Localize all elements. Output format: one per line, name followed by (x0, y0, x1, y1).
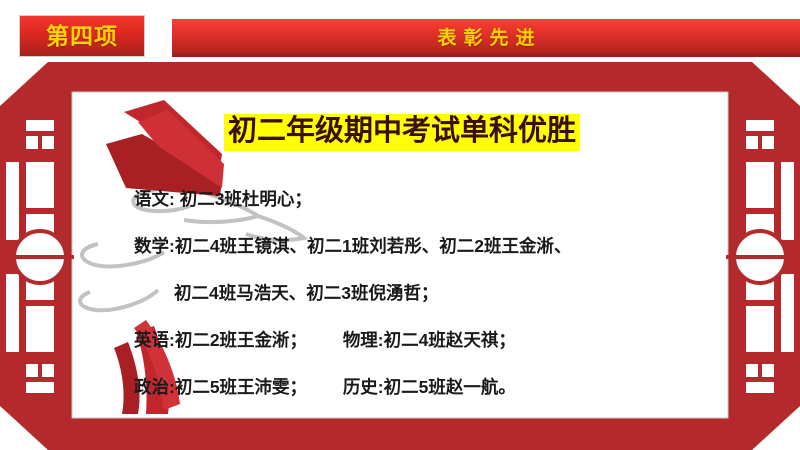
top-bar: 第四项 表彰先进 (0, 0, 800, 62)
slide-root: 第四项 表彰先进 (0, 0, 800, 450)
award-line-text: 初二4班马浩天、初二3班倪湧哲； (174, 283, 438, 303)
section-number-label: 第四项 (46, 25, 118, 48)
section-title-banner: 表彰先进 (172, 19, 800, 57)
list-item: 政治:初二5班王沛雯； 历史:初二5班赵一航。 (72, 364, 728, 411)
award-line-text: 语文: 初二3班杜明心； (134, 189, 312, 209)
award-line-text-a: 英语:初二2班王金淅； (134, 330, 307, 350)
award-line-text-a: 政治:初二5班王沛雯； (134, 377, 307, 397)
list-item: 英语:初二2班王金淅； 物理:初二4班赵天祺； (72, 317, 728, 364)
section-number-badge: 第四项 (19, 15, 145, 57)
list-item: 语文: 初二3班杜明心； (72, 176, 728, 223)
list-item: 数学:初二4班王镜淇、初二1班刘若彤、初二2班王金淅、 (72, 223, 728, 270)
page-title: 初二年级期中考试单科优胜 (224, 114, 580, 151)
award-line-text: 数学:初二4班王镜淇、初二1班刘若彤、初二2班王金淅、 (134, 236, 572, 256)
award-line-text-b: 历史:初二5班赵一航。 (343, 377, 516, 397)
section-title-label: 表彰先进 (430, 29, 541, 48)
award-list: 语文: 初二3班杜明心； 数学:初二4班王镜淇、初二1班刘若彤、初二2班王金淅、… (72, 176, 728, 411)
content-panel: 初二年级期中考试单科优胜 语文: 初二3班杜明心； 数学:初二4班王镜淇、初二1… (72, 92, 728, 418)
award-line-text-b: 物理:初二4班赵天祺； (343, 330, 516, 350)
list-item: 初二4班马浩天、初二3班倪湧哲； (72, 270, 728, 317)
